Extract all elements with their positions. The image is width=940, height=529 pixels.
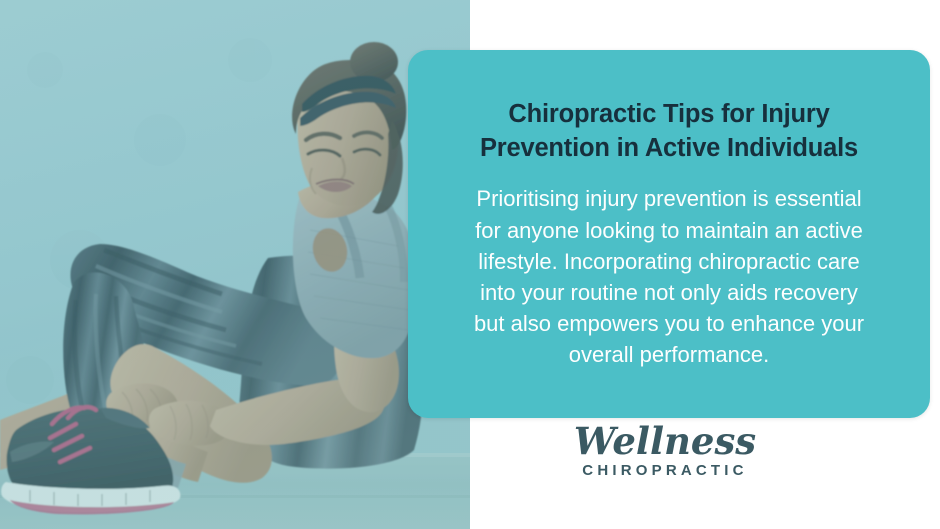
photo-illustration: [0, 0, 470, 529]
logo-subtitle: CHIROPRACTIC: [582, 462, 747, 479]
brand-logo: Wellness CHIROPRACTIC: [560, 418, 770, 490]
hero-photo-injured-athlete: [0, 0, 470, 529]
promotional-graphic: Chiropractic Tips for Injury Prevention …: [0, 0, 940, 529]
content-card: Chiropractic Tips for Injury Prevention …: [408, 50, 930, 418]
logo-artwork: Wellness CHIROPRACTIC: [560, 418, 770, 490]
logo-wordmark: Wellness: [574, 419, 756, 463]
photo-tone-overlay: [0, 0, 470, 529]
card-title: Chiropractic Tips for Injury Prevention …: [440, 98, 898, 165]
card-body-text: Prioritising injury prevention is essent…: [440, 183, 898, 370]
